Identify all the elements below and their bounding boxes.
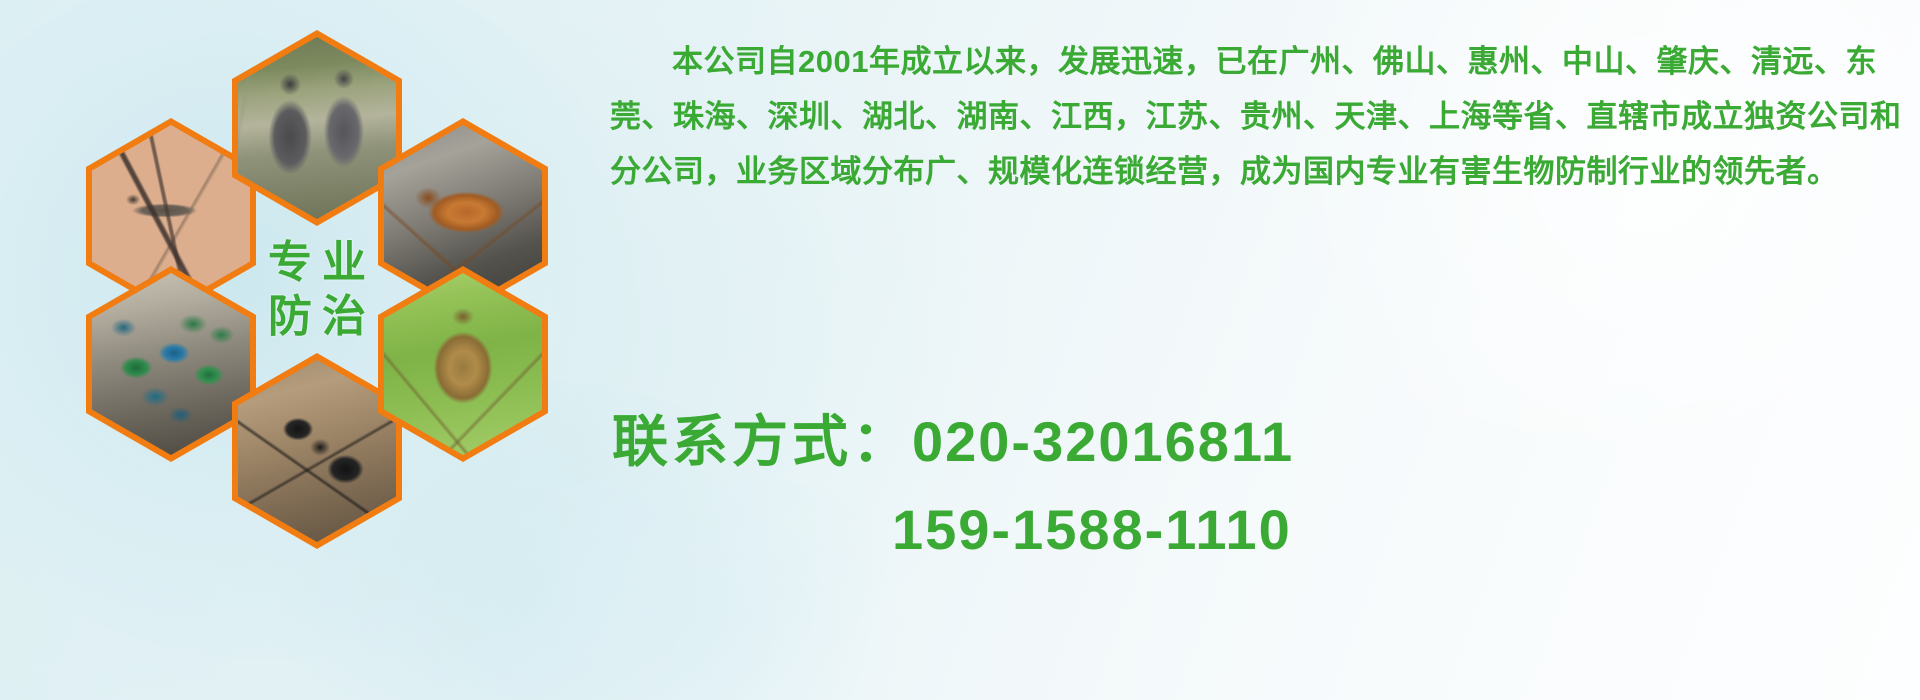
promo-banner: 专业 防治 本公司自2001年成立以来，发展迅速，已在广州、佛山、惠州、中山、肇…: [0, 0, 1920, 700]
stink-bug-photo: [378, 266, 548, 462]
contact-landline-line: 联系方式：020-32016811: [612, 398, 1912, 486]
hexagon-photo-cluster: 专业 防治: [86, 8, 586, 568]
slogan-line-1: 专业: [258, 240, 376, 286]
flies-photo: [86, 266, 256, 462]
intro-copy-block: 本公司自2001年成立以来，发展迅速，已在广州、佛山、惠州、中山、肇庆、清远、东…: [610, 34, 1910, 199]
slogan-line-2: 防治: [258, 294, 376, 340]
contact-block: 联系方式：020-32016811 159-1588-1110: [612, 398, 1912, 574]
contact-phone-landline[interactable]: 020-32016811: [912, 410, 1294, 473]
center-slogan-hexagon: 专业 防治: [232, 192, 402, 388]
company-intro-paragraph: 本公司自2001年成立以来，发展迅速，已在广州、佛山、惠州、中山、肇庆、清远、东…: [610, 34, 1910, 199]
contact-phone-mobile[interactable]: 159-1588-1110: [892, 498, 1292, 561]
contact-mobile-line: 159-1588-1110: [612, 486, 1912, 574]
contact-label: 联系方式：: [612, 410, 912, 473]
